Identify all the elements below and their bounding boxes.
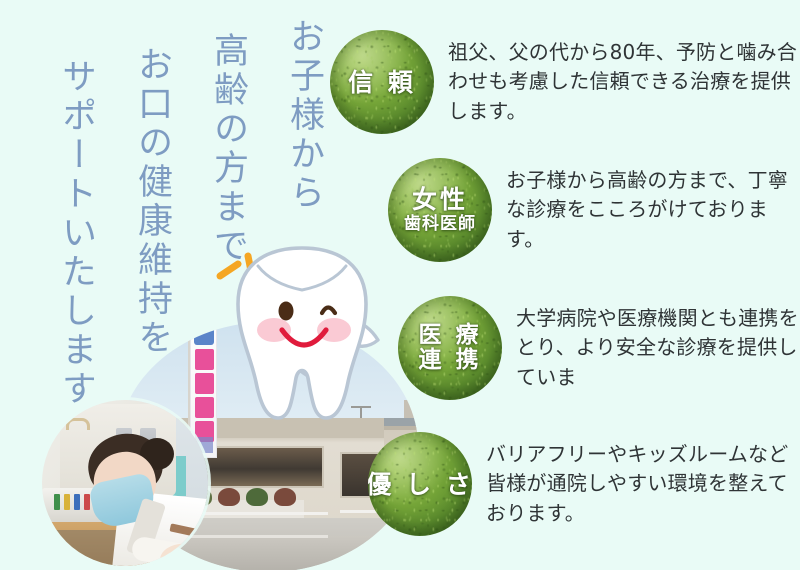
badge-sublabel-dentist: 歯科医師 [404, 215, 476, 233]
banner-root: お子様から 高齢の方まで お口の健康維持を サポートいたします [0, 0, 800, 570]
feature-description-trust: 祖父、父の代から80年、予防と噛み合わせも考慮した信頼できる治療を提供します。 [448, 38, 800, 127]
feature-row-trust: 信 頼 祖父、父の代から80年、予防と噛み合わせも考慮した信頼できる治療を提供し… [330, 30, 800, 134]
feature-row-kindness: 優 し さ バリアフリーやキッズルームなど皆様が通院しやすい環境を整えております… [368, 432, 800, 536]
headline-column-4: サポートいたします [20, 58, 96, 409]
feature-description-medical-cooperation: 大学病院や医療機関とも連携をとり、より安全な診療を提供していま [516, 304, 800, 393]
badge-label-trust: 信 頼 [348, 69, 416, 96]
headline-column-2: 高齢の方まで [172, 32, 248, 266]
eye-open [279, 302, 294, 321]
badge-sublabel-cooperation: 連 携 [418, 348, 481, 373]
feature-description-female-dentist: お子様から高齢の方まで、丁寧な診療をこころがけております。 [506, 166, 800, 255]
smiling-tooth-character [212, 242, 392, 424]
female-dentist-photo [42, 400, 208, 566]
feature-row-female-dentist: 女性 歯科医師 お子様から高齢の方まで、丁寧な診療をこころがけております。 [388, 158, 800, 262]
headline-column-3: お口の健康維持を [96, 46, 172, 358]
headline-column-1: お子様から [248, 18, 324, 213]
feature-description-kindness: バリアフリーやキッズルームなど皆様が通院しやすい環境を整えております。 [486, 440, 800, 529]
badge-label-kindness: 優 し さ [368, 471, 472, 498]
badge-circle-female-dentist: 女性 歯科医師 [388, 158, 492, 262]
badge-label-medical: 医 療 [418, 323, 481, 348]
badge-circle-trust: 信 頼 [330, 30, 434, 134]
feature-row-medical-cooperation: 医 療 連 携 大学病院や医療機関とも連携をとり、より安全な診療を提供していま [398, 296, 800, 400]
badge-circle-kindness: 優 し さ [368, 432, 472, 536]
badge-circle-medical-cooperation: 医 療 連 携 [398, 296, 502, 400]
badge-label-female: 女性 [412, 186, 468, 213]
